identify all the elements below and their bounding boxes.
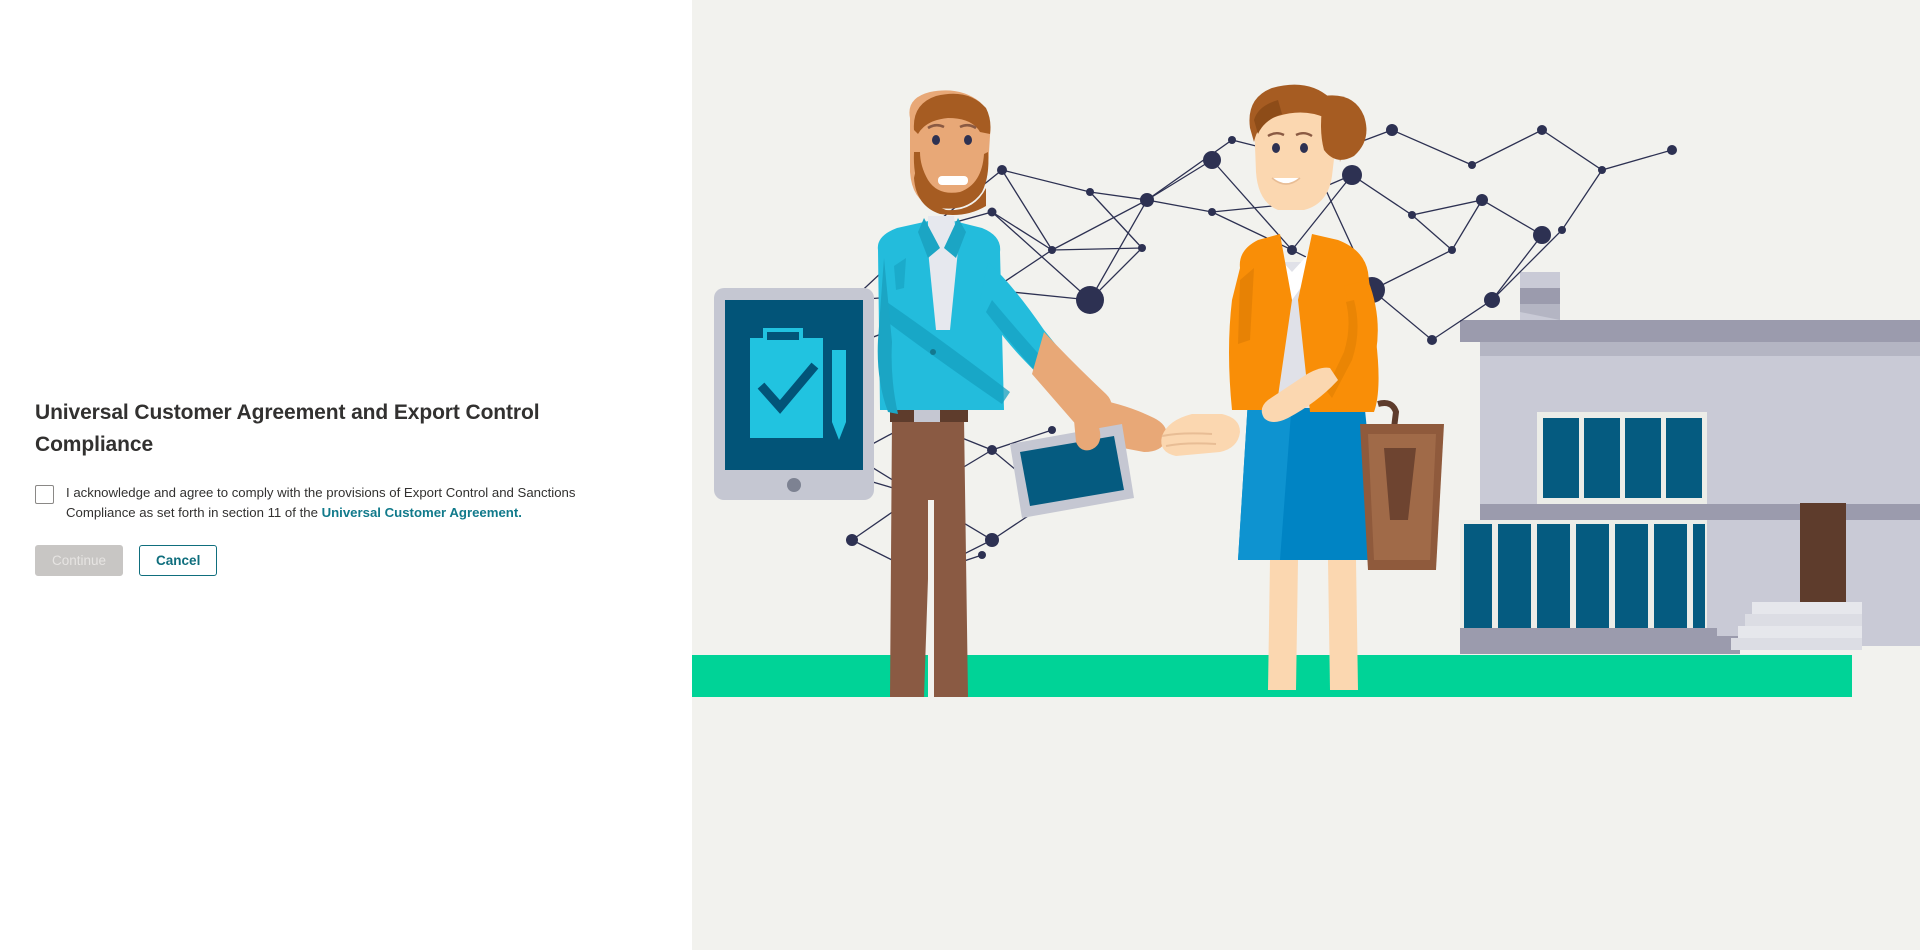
- universal-customer-agreement-link[interactable]: Universal Customer Agreement.: [322, 505, 522, 520]
- business-handshake-agreement-illustration: [692, 0, 1920, 950]
- page-title: Universal Customer Agreement and Export …: [35, 397, 555, 461]
- cancel-button[interactable]: Cancel: [139, 545, 217, 576]
- export-control-acknowledgement-checkbox[interactable]: [35, 485, 54, 504]
- form-actions: Continue Cancel: [35, 545, 635, 576]
- tablet-with-clipboard-checkmark: [714, 288, 874, 500]
- agreement-form: Universal Customer Agreement and Export …: [35, 397, 635, 576]
- acknowledgement-row: I acknowledge and agree to comply with t…: [35, 483, 635, 523]
- illustration-panel: [692, 0, 1920, 950]
- acknowledgement-label: I acknowledge and agree to comply with t…: [66, 483, 611, 523]
- agreement-page: Universal Customer Agreement and Export …: [0, 0, 1920, 950]
- left-form-panel: Universal Customer Agreement and Export …: [0, 0, 692, 950]
- office-building: [1460, 272, 1920, 654]
- continue-button[interactable]: Continue: [35, 545, 123, 576]
